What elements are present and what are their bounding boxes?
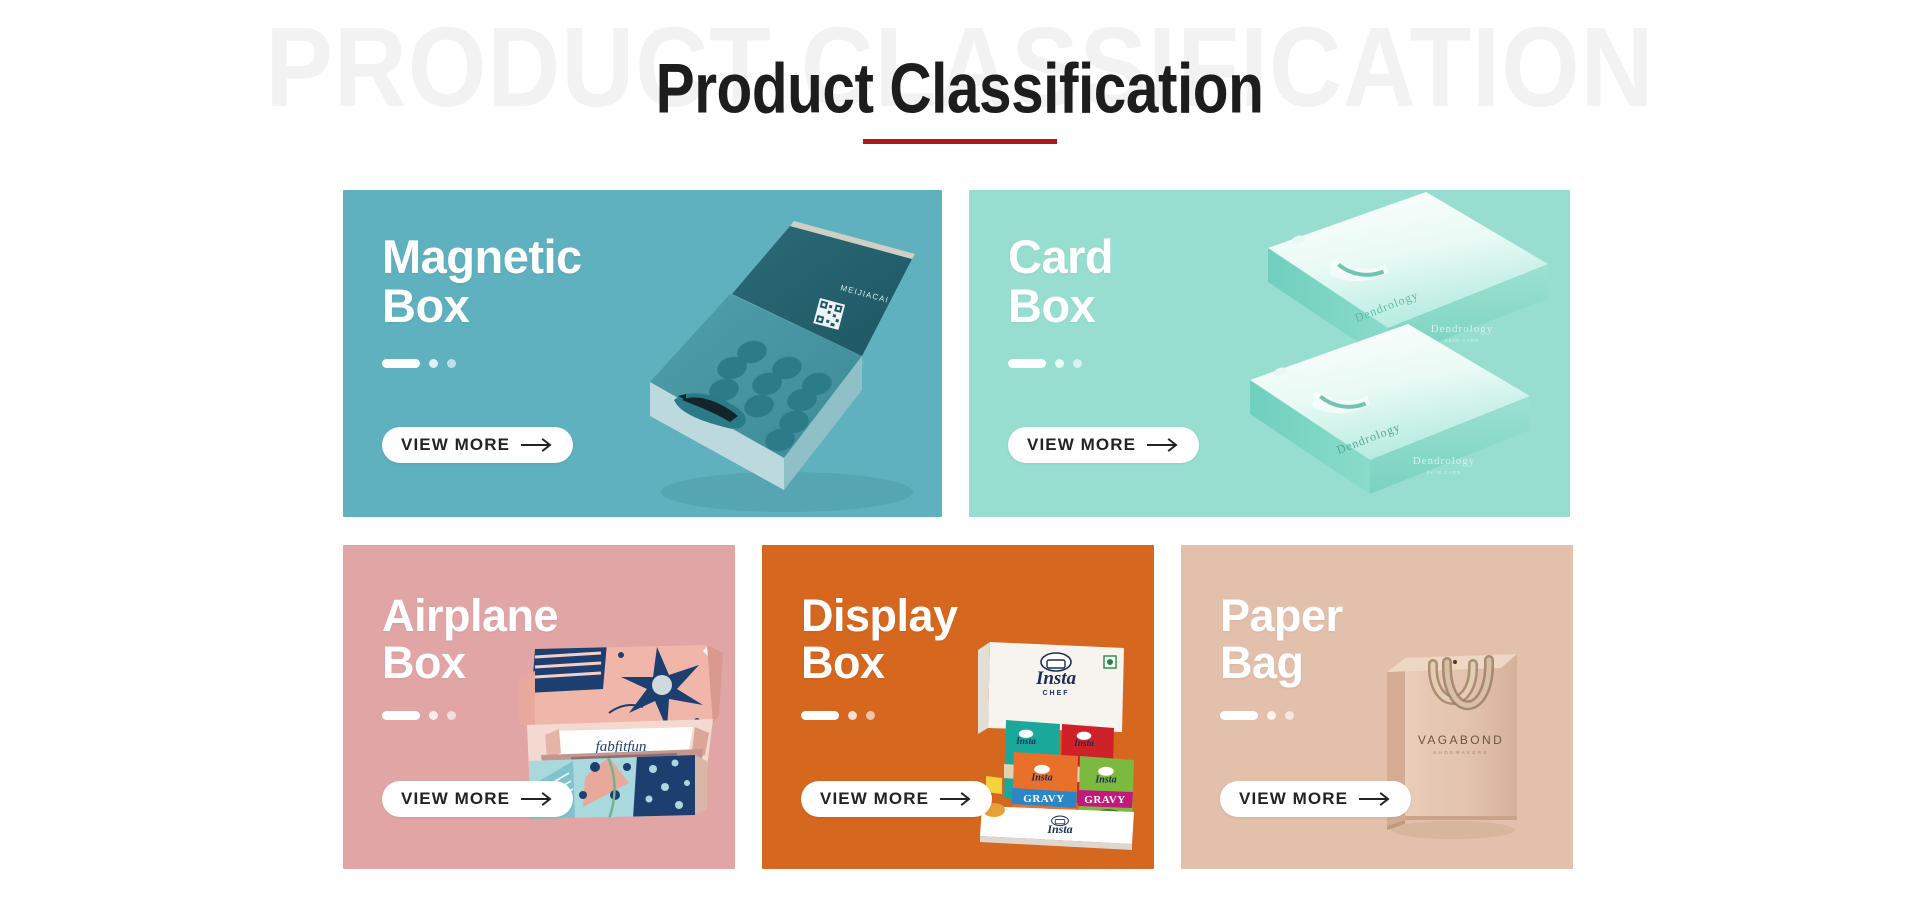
card-body: Card Box VIEW MORE <box>969 190 1570 517</box>
view-more-label: VIEW MORE <box>401 436 510 453</box>
view-more-button[interactable]: VIEW MORE <box>801 781 992 817</box>
view-more-button[interactable]: VIEW MORE <box>1220 781 1411 817</box>
indicator-dot-2[interactable] <box>848 711 857 720</box>
card-slide-indicator[interactable] <box>382 711 735 720</box>
view-more-label: VIEW MORE <box>1239 790 1348 807</box>
card-title: Display Box <box>801 593 1154 687</box>
card-body: Paper Bag VIEW MORE <box>1181 545 1573 869</box>
view-more-label: VIEW MORE <box>1027 436 1136 453</box>
indicator-bar-active[interactable] <box>1008 359 1046 368</box>
card-slide-indicator[interactable] <box>1220 711 1573 720</box>
view-more-button[interactable]: VIEW MORE <box>382 781 573 817</box>
indicator-dot-2[interactable] <box>429 359 438 368</box>
arrow-right-icon <box>941 792 975 806</box>
indicator-dot-3[interactable] <box>1285 711 1294 720</box>
indicator-bar-active[interactable] <box>1220 711 1258 720</box>
card-row-bottom: fabfitfun THE SPRING BOX <box>343 545 1570 869</box>
arrow-right-icon <box>522 438 556 452</box>
card-body: Magnetic Box VIEW MORE <box>343 190 942 517</box>
page-header: PRODUCT CLASSIFICATION Product Classific… <box>0 0 1920 175</box>
card-title: Paper Bag <box>1220 593 1573 687</box>
indicator-bar-active[interactable] <box>382 711 420 720</box>
page-title-wrap: Product Classification <box>0 52 1920 114</box>
card-body: Airplane Box VIEW MORE <box>343 545 735 869</box>
indicator-dot-2[interactable] <box>1055 359 1064 368</box>
indicator-dot-2[interactable] <box>1267 711 1276 720</box>
indicator-bar-active[interactable] <box>382 359 420 368</box>
indicator-dot-3[interactable] <box>866 711 875 720</box>
card-slide-indicator[interactable] <box>801 711 1154 720</box>
indicator-dot-3[interactable] <box>447 711 456 720</box>
title-underline <box>863 139 1057 144</box>
product-card-grid: MEIJIACAI <box>343 190 1570 869</box>
indicator-bar-active[interactable] <box>801 711 839 720</box>
page-title: Product Classification <box>656 52 1264 124</box>
card-slide-indicator[interactable] <box>382 359 942 368</box>
card-row-top: MEIJIACAI <box>343 190 1570 517</box>
card-title: Card Box <box>1008 233 1570 331</box>
view-more-button[interactable]: VIEW MORE <box>1008 427 1199 463</box>
arrow-right-icon <box>1360 792 1394 806</box>
product-card-paper-bag[interactable]: VAGABOND SHOEMAKERS Paper Bag <box>1181 545 1573 869</box>
card-slide-indicator[interactable] <box>1008 359 1570 368</box>
product-card-magnetic-box[interactable]: MEIJIACAI <box>343 190 942 517</box>
arrow-right-icon <box>1148 438 1182 452</box>
indicator-dot-3[interactable] <box>1073 359 1082 368</box>
product-card-card-box[interactable]: Dendrology Dendrology SKIN CARE <box>969 190 1570 517</box>
card-title: Airplane Box <box>382 593 735 687</box>
product-card-airplane-box[interactable]: fabfitfun THE SPRING BOX <box>343 545 735 869</box>
indicator-dot-3[interactable] <box>447 359 456 368</box>
card-title: Magnetic Box <box>382 233 942 331</box>
view-more-label: VIEW MORE <box>820 790 929 807</box>
product-card-display-box[interactable]: Insta CHEF Insta <box>762 545 1154 869</box>
card-body: Display Box VIEW MORE <box>762 545 1154 869</box>
view-more-button[interactable]: VIEW MORE <box>382 427 573 463</box>
arrow-right-icon <box>522 792 556 806</box>
indicator-dot-2[interactable] <box>429 711 438 720</box>
view-more-label: VIEW MORE <box>401 790 510 807</box>
product-classification-page: PRODUCT CLASSIFICATION Product Classific… <box>0 0 1920 910</box>
